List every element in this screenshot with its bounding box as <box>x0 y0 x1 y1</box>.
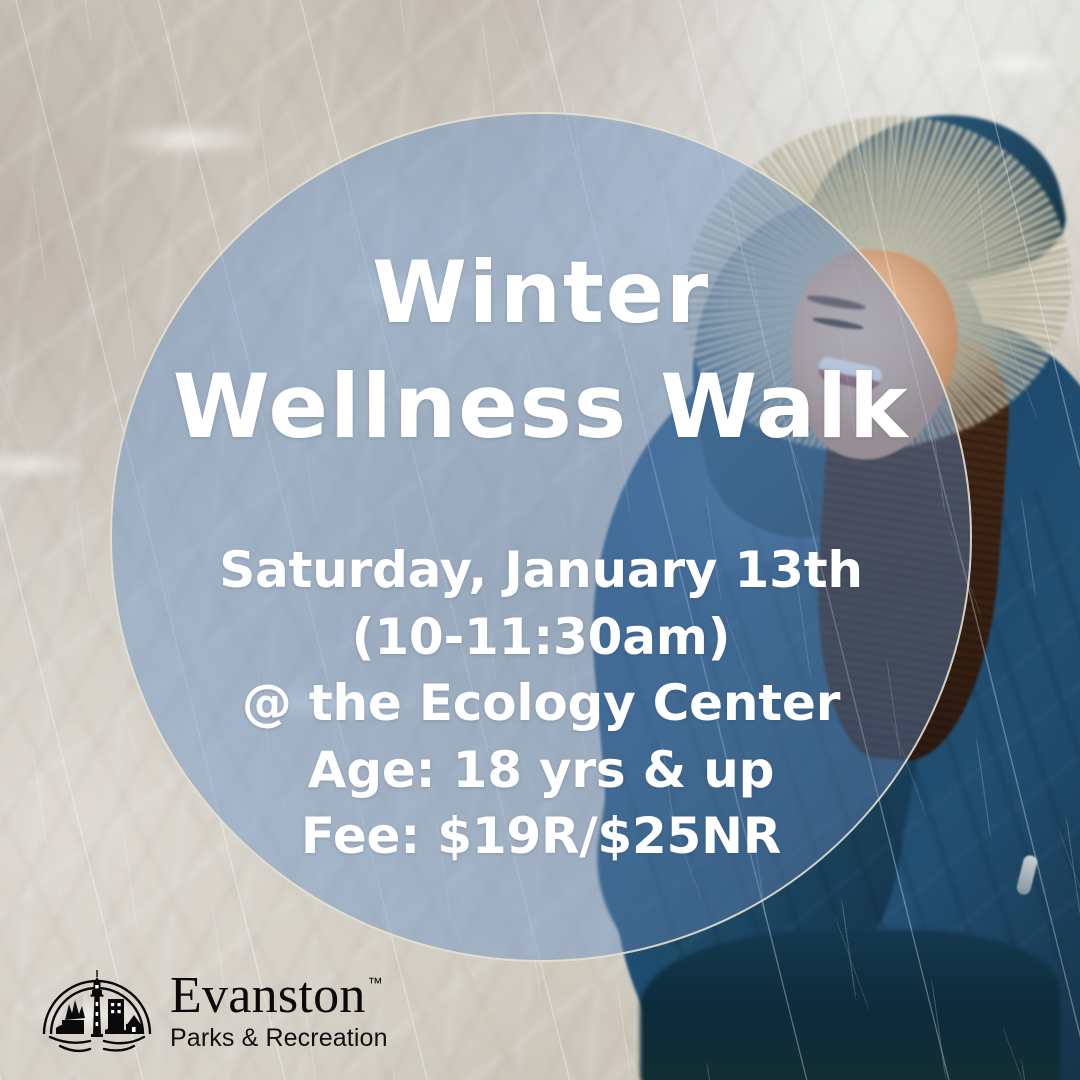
event-flyer: Winter Wellness Walk Saturday, January 1… <box>0 0 1080 1080</box>
event-detail-date: Saturday, January 13th <box>219 537 863 604</box>
logo-subline: Parks & Recreation <box>170 1026 388 1051</box>
evanston-parks-recreation-logo: Evanston ™ Parks & Recreation <box>38 958 388 1062</box>
poster-title-line-2: Wellness Walk <box>173 362 910 452</box>
event-detail-fee: Fee: $19R/$25NR <box>301 803 781 870</box>
poster-title-line-1: Winter <box>372 250 710 338</box>
lighthouse-skyline-icon <box>38 958 156 1062</box>
logo-wordmark-text: Evanston <box>170 970 366 1022</box>
logo-wordmark: Evanston ™ <box>170 970 388 1022</box>
event-detail-time: (10-11:30am) <box>352 604 731 671</box>
event-detail-location: @ the Ecology Center <box>242 670 840 737</box>
logo-wordmark-group: Evanston ™ Parks & Recreation <box>170 970 388 1051</box>
event-detail-age: Age: 18 yrs & up <box>308 737 774 804</box>
event-details-list: Saturday, January 13th (10-11:30am) @ th… <box>219 537 863 870</box>
poster-text-block: Winter Wellness Walk Saturday, January 1… <box>110 112 972 962</box>
trademark-symbol: ™ <box>368 976 383 991</box>
